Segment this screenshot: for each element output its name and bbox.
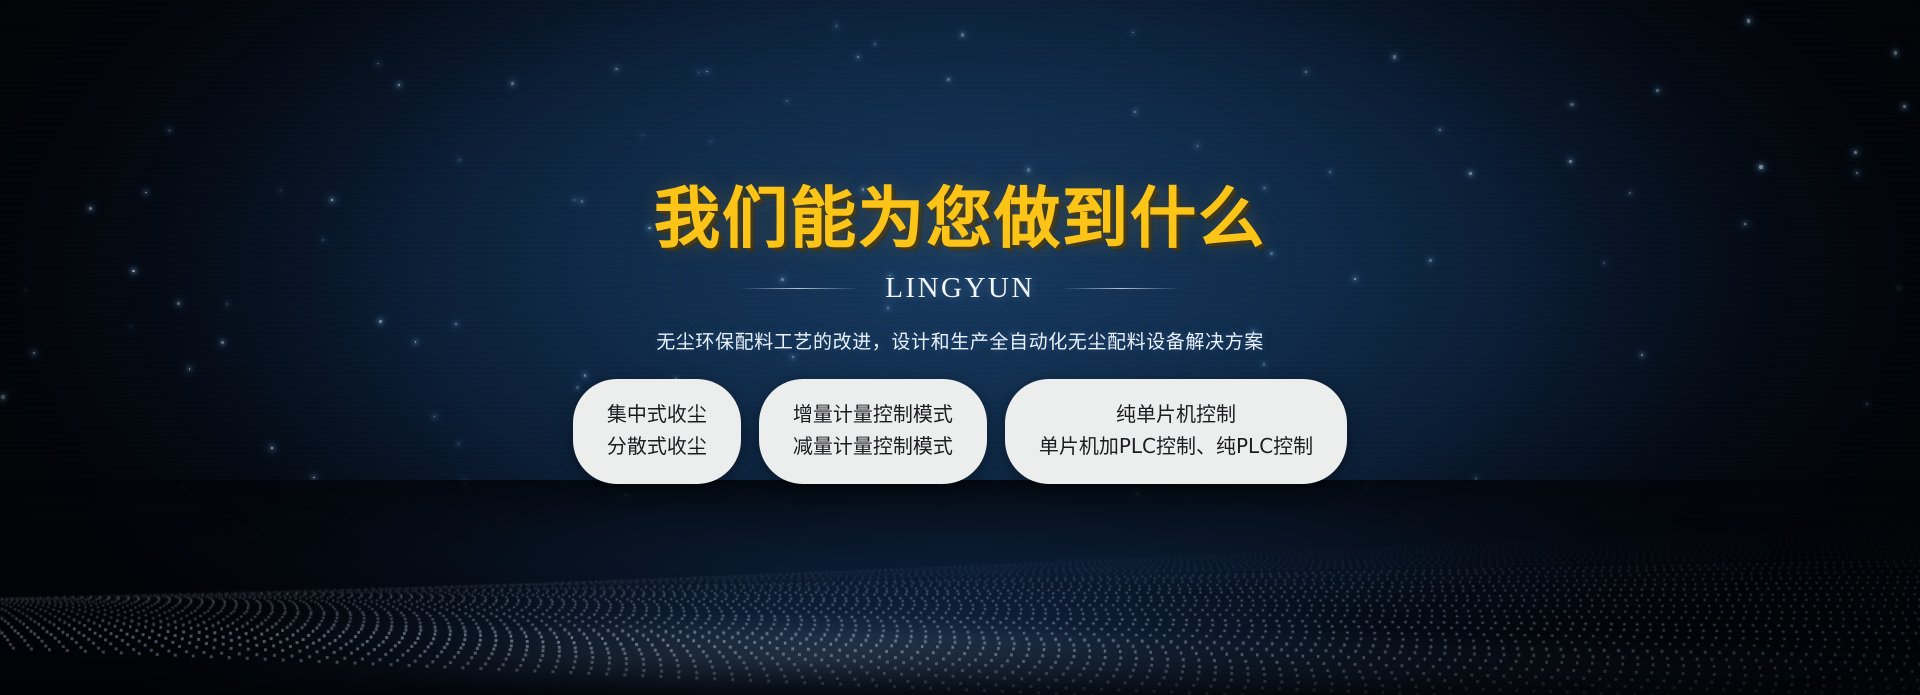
feature-card-line: 纯单片机控制: [1039, 398, 1313, 430]
divider-line-left: [739, 288, 859, 289]
feature-card[interactable]: 纯单片机控制 单片机加PLC控制、纯PLC控制: [1005, 379, 1347, 484]
feature-card[interactable]: 增量计量控制模式 减量计量控制模式: [759, 379, 987, 484]
brand-name: LINGYUN: [885, 272, 1035, 305]
feature-card-line: 分散式收尘: [607, 430, 707, 462]
page-subtitle: 无尘环保配料工艺的改进，设计和生产全自动化无尘配料设备解决方案: [0, 327, 1920, 354]
feature-card[interactable]: 集中式收尘 分散式收尘: [573, 379, 741, 484]
eyebrow-row: LINGYUN: [0, 272, 1920, 305]
particle-wave: [0, 480, 1920, 695]
feature-card-line: 集中式收尘: [607, 398, 707, 430]
divider-line-right: [1061, 288, 1181, 289]
feature-card-line: 单片机加PLC控制、纯PLC控制: [1039, 430, 1313, 462]
feature-card-line: 减量计量控制模式: [793, 430, 953, 462]
feature-card-line: 增量计量控制模式: [793, 398, 953, 430]
page-title: 我们能为您做到什么: [0, 186, 1920, 252]
banner-content: 我们能为您做到什么 LINGYUN 无尘环保配料工艺的改进，设计和生产全自动化无…: [0, 0, 1920, 484]
feature-card-list: 集中式收尘 分散式收尘 增量计量控制模式 减量计量控制模式 纯单片机控制 单片机…: [0, 379, 1920, 484]
hero-banner: 我们能为您做到什么 LINGYUN 无尘环保配料工艺的改进，设计和生产全自动化无…: [0, 0, 1920, 695]
